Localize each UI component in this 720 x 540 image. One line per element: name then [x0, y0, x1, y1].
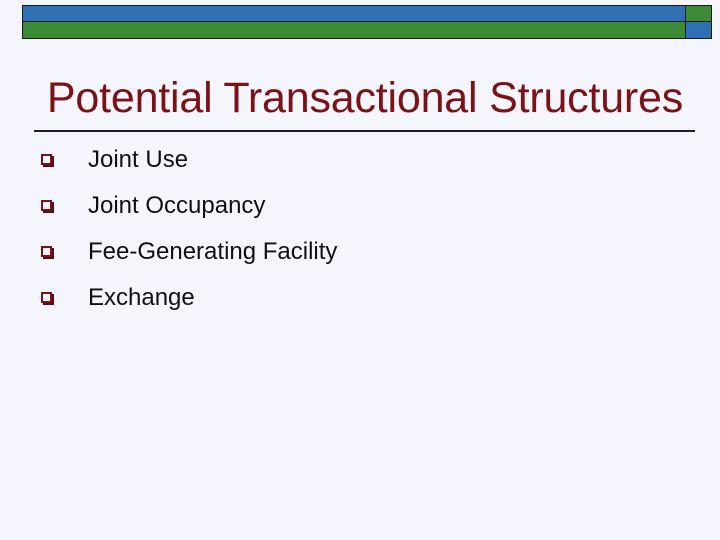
- hollow-square-bullet-icon: [41, 292, 52, 303]
- list-item: Fee-Generating Facility: [36, 234, 696, 280]
- bullet-marker: [36, 188, 88, 234]
- banner-tail-blue-bottom: [686, 22, 712, 39]
- bullet-list: Joint Use Joint Occupancy Fee-Generating…: [36, 142, 696, 326]
- banner-stripe-green-bottom: [22, 22, 686, 39]
- list-item-label: Joint Occupancy: [88, 188, 696, 222]
- banner-tail-blocks: [686, 5, 712, 39]
- list-item-label: Joint Use: [88, 142, 696, 176]
- presentation-slide: Potential Transactional Structures Joint…: [0, 0, 720, 540]
- decorative-banner: [22, 5, 712, 39]
- list-item: Joint Occupancy: [36, 188, 696, 234]
- banner-stripe-blue-top: [22, 5, 686, 22]
- list-item: Exchange: [36, 280, 696, 326]
- banner-tail-green-top: [686, 5, 712, 22]
- bullet-marker: [36, 234, 88, 280]
- hollow-square-bullet-icon: [41, 154, 52, 165]
- hollow-square-bullet-icon: [41, 246, 52, 257]
- list-item-label: Exchange: [88, 280, 696, 314]
- bullet-marker: [36, 280, 88, 326]
- list-item-label: Fee-Generating Facility: [88, 234, 696, 268]
- banner-main-bars: [22, 5, 686, 39]
- slide-title: Potential Transactional Structures: [34, 72, 696, 124]
- bullet-marker: [36, 142, 88, 188]
- hollow-square-bullet-icon: [41, 200, 52, 211]
- list-item: Joint Use: [36, 142, 696, 188]
- title-divider-rule: [34, 130, 695, 132]
